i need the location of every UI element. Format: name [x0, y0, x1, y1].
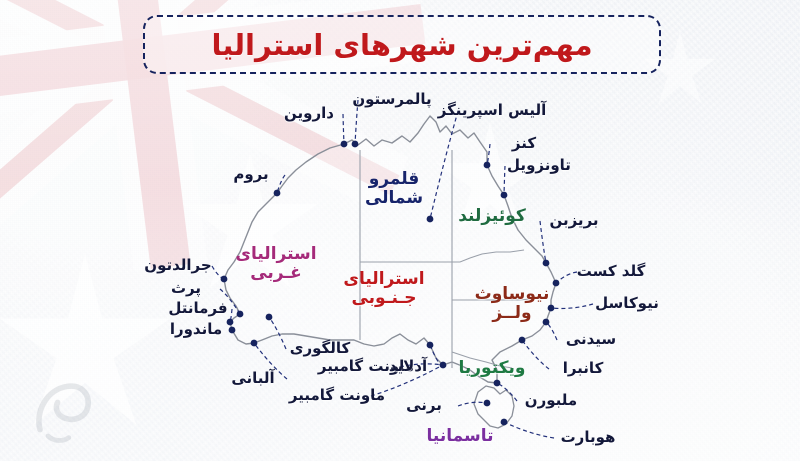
city-dot-17 — [251, 340, 258, 347]
city-label-8: سیدنی — [536, 332, 646, 347]
city-dot-1 — [341, 141, 348, 148]
state-label-line1: نیوساوث — [475, 284, 550, 304]
city-label-18: ماندورا — [141, 322, 251, 337]
state-label-line2: جـنـوبی — [351, 288, 416, 308]
city-label-1: داروین — [254, 106, 364, 121]
city-dot-22 — [274, 190, 281, 197]
state-label-line1: استرالیای — [235, 244, 316, 264]
city-label-16: کالگوری — [265, 341, 375, 356]
state-label-line1: ویکتوریا — [459, 358, 526, 378]
city-dot-10 — [494, 380, 501, 387]
city-dot-12 — [484, 400, 491, 407]
state-label-2: استرالیایغـربی — [216, 245, 336, 283]
city-label-13: ماونت گامبیر — [282, 388, 392, 403]
city-label-9: کانبرا — [528, 361, 638, 376]
city-label-4: تاونزویل — [484, 158, 594, 173]
city-dot-16 — [266, 314, 273, 321]
state-label-4: نیوساوثولــز — [452, 285, 572, 323]
city-dot-9 — [519, 337, 526, 344]
city-label-0: پالمرستون — [337, 92, 447, 107]
city-label-11: هوبارت — [533, 430, 643, 445]
city-label-21: جرالدتون — [123, 258, 233, 273]
state-label-line2: شمالی — [365, 188, 423, 208]
city-label-10: ملبورن — [496, 393, 606, 408]
city-label-22: بروم — [196, 167, 306, 182]
page-title-box: مهم‌ترین شهرهای استرالیا — [143, 15, 661, 74]
city-label-15: آدلاید — [353, 359, 463, 374]
infographic-canvas: مهم‌ترین شهرهای استرالیا قلمروشمالیکوئیز… — [0, 0, 800, 461]
city-label-17: آلبانی — [198, 371, 308, 386]
page-title: مهم‌ترین شهرهای استرالیا — [211, 28, 592, 62]
city-dot-5 — [543, 260, 550, 267]
city-label-7: نیوکاسل — [572, 296, 682, 311]
state-label-0: قلمروشمالی — [334, 170, 454, 208]
state-label-line2: غـربی — [250, 263, 302, 283]
city-dot-0 — [352, 141, 359, 148]
city-label-5: بریزبن — [519, 213, 629, 228]
state-label-3: استرالیایجـنـوبی — [324, 270, 444, 308]
city-label-3: کنز — [469, 136, 579, 151]
city-label-20: پرث — [131, 281, 241, 296]
state-label-line1: کوئیزلند — [458, 206, 526, 226]
state-label-6: تاسمانیا — [400, 427, 520, 446]
state-label-line1: قلمرو — [369, 169, 420, 189]
city-label-6: گلد کست — [556, 264, 666, 279]
city-label-2: آلیس اسپرینگز — [437, 103, 547, 118]
state-label-line1: استرالیای — [343, 269, 424, 289]
state-label-line1: تاسمانیا — [427, 426, 494, 446]
city-dot-11 — [501, 419, 508, 426]
city-label-19: فرمانتل — [143, 301, 253, 316]
city-dot-15 — [427, 342, 434, 349]
city-dot-4 — [501, 192, 508, 199]
state-label-line2: ولــز — [492, 303, 531, 323]
